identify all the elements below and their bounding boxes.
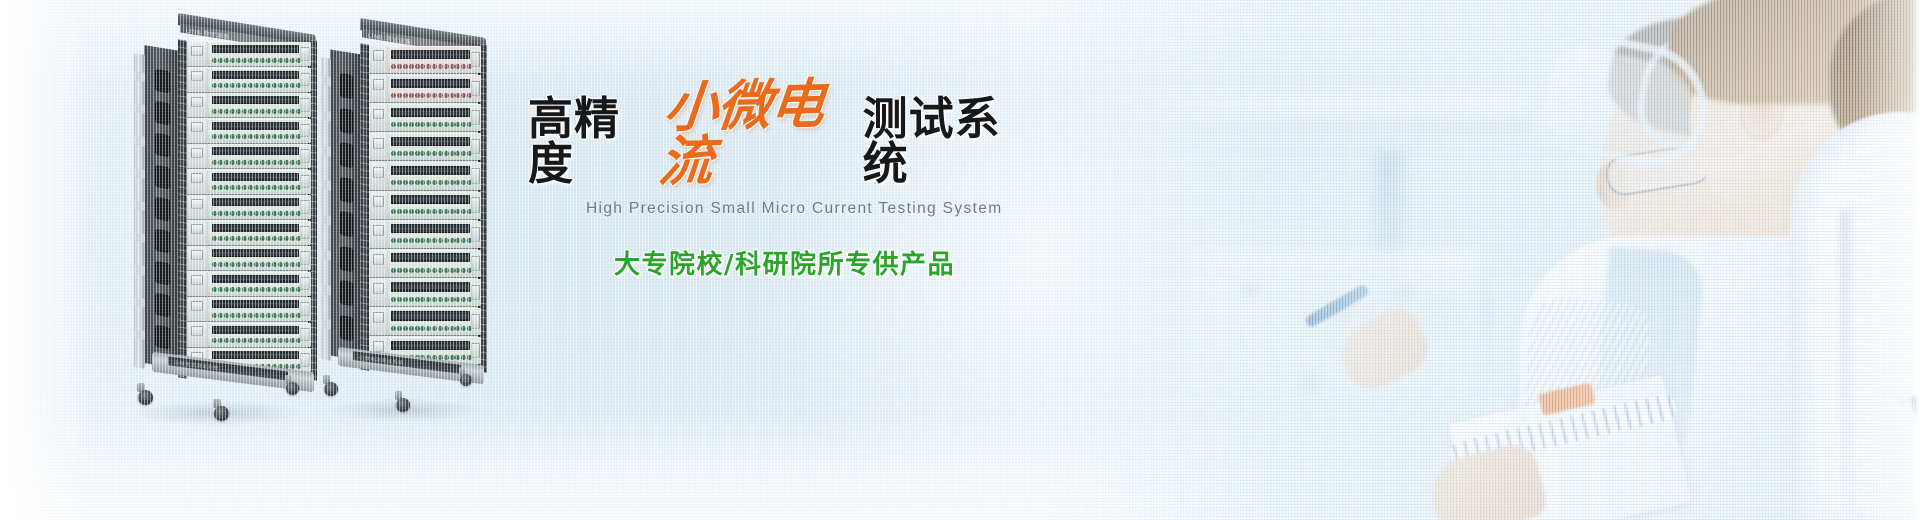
subtitle-chinese: 大专院校/科研院所专供产品 bbox=[614, 244, 1028, 281]
headline-part-1: 高精度 bbox=[528, 96, 652, 186]
headline-part-2: 小微电流 bbox=[653, 75, 863, 188]
headline-block: 高精度 小微电流 测试系统 High Precision Small Micro… bbox=[528, 124, 1028, 281]
product-banner: LINB 数字源表小微电流测试系统 LINB 测试设备小微电流测试系统 高精度 … bbox=[0, 0, 1920, 520]
headline-part-3: 测试系统 bbox=[863, 96, 1028, 186]
headline: 高精度 小微电流 测试系统 bbox=[528, 124, 1028, 186]
subtitle-english: High Precision Small Micro Current Testi… bbox=[586, 200, 1028, 218]
